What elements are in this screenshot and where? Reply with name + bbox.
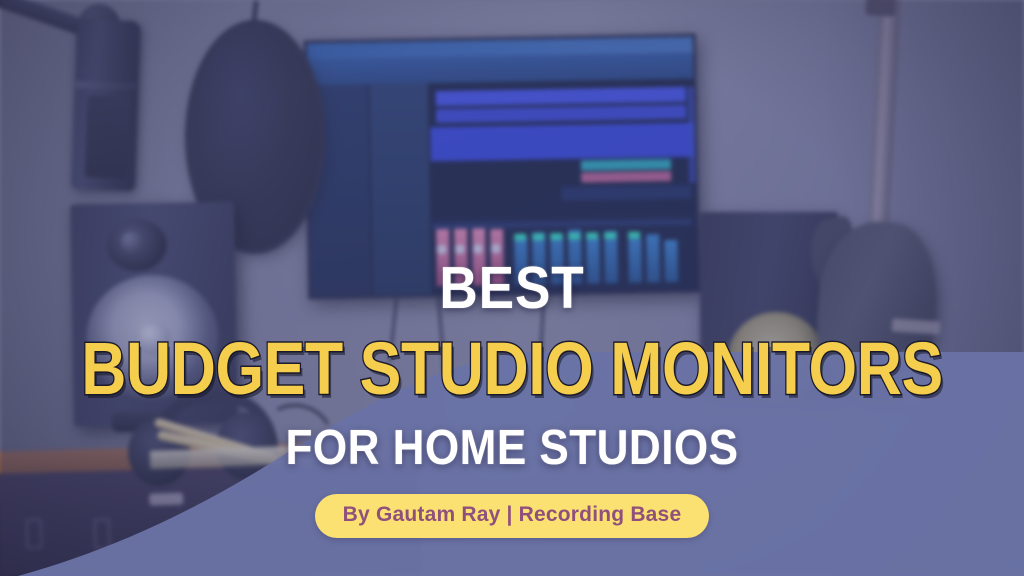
- thumbnail-text-layer: BEST BUDGET STUDIO MONITORS FOR HOME STU…: [0, 0, 1024, 576]
- kicker-text: BEST: [51, 259, 973, 318]
- video-thumbnail: BEST BUDGET STUDIO MONITORS FOR HOME STU…: [0, 0, 1024, 576]
- byline-container: By Gautam Ray | Recording Base: [0, 494, 1024, 538]
- headline-text: BUDGET STUDIO MONITORS: [79, 332, 944, 406]
- subline-text: FOR HOME STUDIOS: [51, 424, 973, 473]
- byline-badge: By Gautam Ray | Recording Base: [315, 494, 710, 538]
